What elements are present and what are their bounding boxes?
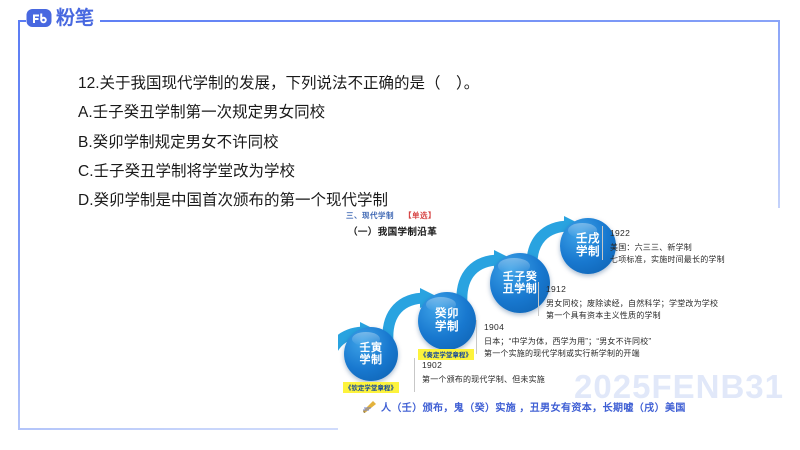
timeline-node-renyin: 壬寅 学制 [344, 327, 398, 381]
entry3-line2: 第一个具有资本主义性质的学制 [546, 310, 718, 322]
entry3-line1: 男女同校；废除读经，自然科学；学堂改为学校 [546, 298, 718, 310]
slide-canvas: 粉笔 12.关于我国现代学制的发展，下列说法不正确的是（ ）。 A.壬子癸丑学制… [0, 0, 800, 450]
entry-1902: 1902 第一个颁布的现代学制、但未实施 [422, 360, 545, 386]
diagram-topbar-badge: 【单选】 [404, 211, 436, 220]
mnemonic-row: 人（壬）颁布，鬼（癸）实施 ，丑男女有资本，长期嘘（戌）美国 [362, 399, 686, 414]
node3-line2: 丑学制 [503, 283, 538, 295]
node1-line1: 壬寅 [360, 342, 383, 354]
diagram-topbar-left: 三、现代学制 [346, 211, 394, 220]
entry-1904: 1904 日本；“中学为体，西学为用”；“男女不许同校” 第一个实施的现代学制或… [484, 322, 651, 361]
node2-line2: 学制 [435, 321, 459, 334]
entry1-rule [414, 358, 415, 392]
node4-line1: 壬戌 [576, 233, 600, 246]
entry-1922: 1922 美国：六三三、新学制 七项标准，实施时间最长的学制 [610, 228, 725, 267]
entry4-year: 1922 [610, 228, 725, 238]
entry3-rule [538, 282, 539, 316]
entry1-line1: 第一个颁布的现代学制、但未实施 [422, 374, 545, 386]
timeline-node-renxu: 壬戌 学制 [560, 218, 616, 274]
entry3-year: 1912 [546, 284, 718, 294]
embedded-diagram: 三、现代学制【单选】 （一）我国学制沿革 壬寅 学制 癸卯 学制 [338, 208, 790, 436]
entry2-rule [476, 320, 477, 354]
timeline-node-guimao: 癸卯 学制 [418, 292, 476, 350]
question-stem: 12.关于我国现代学制的发展，下列说法不正确的是（ ）。 [78, 76, 638, 92]
mnemonic-text: 人（壬）颁布，鬼（癸）实施 ，丑男女有资本，长期嘘（戌）美国 [381, 399, 686, 414]
entry2-line2: 第一个实施的现代学制或实行新学制的开端 [484, 348, 651, 360]
pencil-icon [362, 400, 377, 413]
entry2-line1: 日本；“中学为体，西学为用”；“男女不许同校” [484, 336, 651, 348]
brand-logo: 粉笔 [26, 8, 100, 28]
node1-line2: 学制 [360, 354, 383, 366]
diagram-topbar: 三、现代学制【单选】 [346, 210, 436, 221]
question-option-d[interactable]: D.癸卯学制是中国首次颁布的第一个现代学制 [78, 193, 638, 209]
question-option-c[interactable]: C.壬子癸丑学制将学堂改为学校 [78, 164, 638, 180]
entry1-year: 1902 [422, 360, 545, 370]
question-block: 12.关于我国现代学制的发展，下列说法不正确的是（ ）。 A.壬子癸丑学制第一次… [78, 76, 638, 222]
question-option-b[interactable]: B.癸卯学制规定男女不许同校 [78, 135, 638, 151]
timeline-node-renzi-guichou: 壬子癸 丑学制 [490, 253, 550, 313]
node2-tag: 《奏定学堂章程》 [418, 349, 474, 360]
entry2-year: 1904 [484, 322, 651, 332]
question-option-a[interactable]: A.壬子癸丑学制第一次规定男女同校 [78, 105, 638, 121]
node1-tag: 《钦定学堂章程》 [343, 382, 399, 393]
entry4-line2: 七项标准，实施时间最长的学制 [610, 254, 725, 266]
entry4-rule [602, 226, 603, 260]
node3-line1: 壬子癸 [503, 271, 538, 283]
entry4-line1: 美国：六三三、新学制 [610, 242, 725, 254]
brand-name: 粉笔 [56, 9, 94, 28]
fb-logo-icon [26, 8, 52, 28]
node4-line2: 学制 [576, 246, 600, 259]
entry-1912: 1912 男女同校；废除读经，自然科学；学堂改为学校 第一个具有资本主义性质的学… [546, 284, 718, 323]
diagram-subtitle: （一）我国学制沿革 [348, 224, 437, 238]
node2-line1: 癸卯 [435, 308, 459, 321]
